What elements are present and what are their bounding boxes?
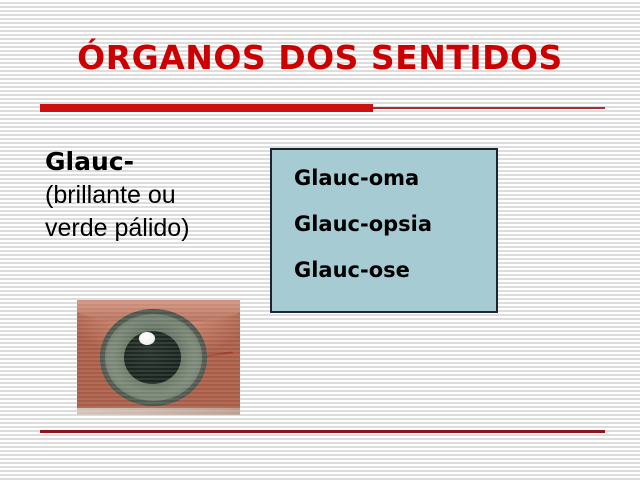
slide-canvas: ÓRGANOS DOS SENTIDOS Glauc- (brillante o… bbox=[0, 0, 640, 480]
title-divider bbox=[40, 102, 605, 114]
title-divider-thick-segment bbox=[40, 104, 373, 112]
root-term-gloss-line-1: (brillante ou bbox=[45, 179, 260, 212]
list-item: Glauc-opsia bbox=[294, 212, 496, 236]
derived-terms-list: Glauc-oma Glauc-opsia Glauc-ose bbox=[272, 150, 496, 282]
page-title: ÓRGANOS DOS SENTIDOS bbox=[0, 38, 640, 77]
root-term-label: Glauc- bbox=[45, 145, 260, 179]
eye-photograph bbox=[77, 300, 240, 415]
title-divider-thin-segment bbox=[373, 107, 605, 109]
list-item: Glauc-ose bbox=[294, 258, 496, 282]
list-item: Glauc-oma bbox=[294, 166, 496, 190]
root-term-block: Glauc- (brillante ou verde pálido) bbox=[45, 145, 260, 245]
eye-photo-texture-overlay bbox=[77, 300, 240, 415]
footer-divider bbox=[40, 430, 605, 433]
root-term-gloss-line-2: verde pálido) bbox=[45, 212, 260, 245]
derived-terms-box: Glauc-oma Glauc-opsia Glauc-ose bbox=[270, 148, 498, 313]
